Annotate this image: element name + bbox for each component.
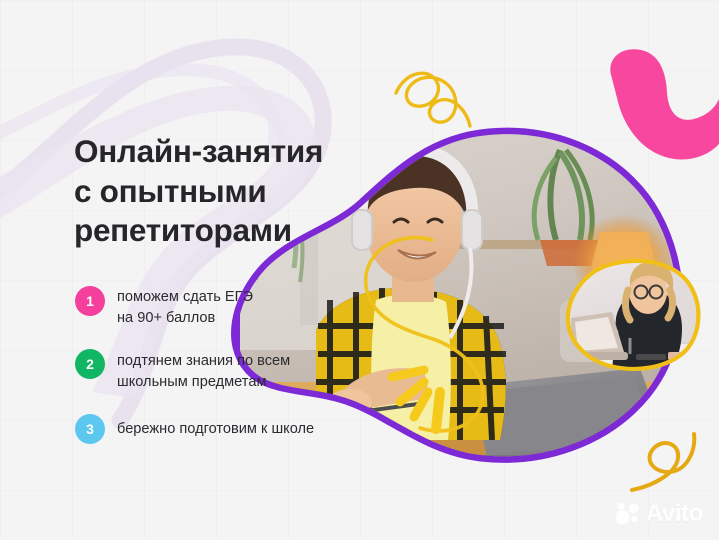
avito-dots-logo	[615, 502, 641, 526]
bullet-number-badge: 2	[75, 349, 105, 379]
list-item: 2 подтянем знания по всем школьным предм…	[75, 349, 405, 392]
page-title: Онлайн-занятия с опытными репетиторами	[74, 132, 394, 251]
bullet-text: поможем сдать ЕГЭ на 90+ баллов	[117, 286, 253, 328]
bullet-number-badge: 1	[75, 286, 105, 316]
bullet-text: бережно подготовим к школе	[117, 414, 314, 440]
promo-banner: Онлайн-занятия с опытными репетиторами 1…	[0, 0, 719, 540]
bullet-text: подтянем знания по всем школьным предмет…	[117, 349, 290, 392]
list-item: 3 бережно подготовим к школе	[75, 414, 405, 444]
pink-crescent	[610, 49, 719, 159]
bullet-number-badge: 3	[75, 414, 105, 444]
yellow-spiral-squiggle-top	[396, 73, 470, 126]
yellow-loop-squiggle-bottom	[632, 434, 694, 490]
benefits-list: 1 поможем сдать ЕГЭ на 90+ баллов 2 подт…	[75, 286, 405, 444]
list-item: 1 поможем сдать ЕГЭ на 90+ баллов	[75, 286, 405, 328]
avito-wordmark: Avito	[646, 502, 703, 526]
avito-watermark: Avito	[615, 502, 703, 526]
lavender-swirl-ribbon	[0, 0, 719, 540]
